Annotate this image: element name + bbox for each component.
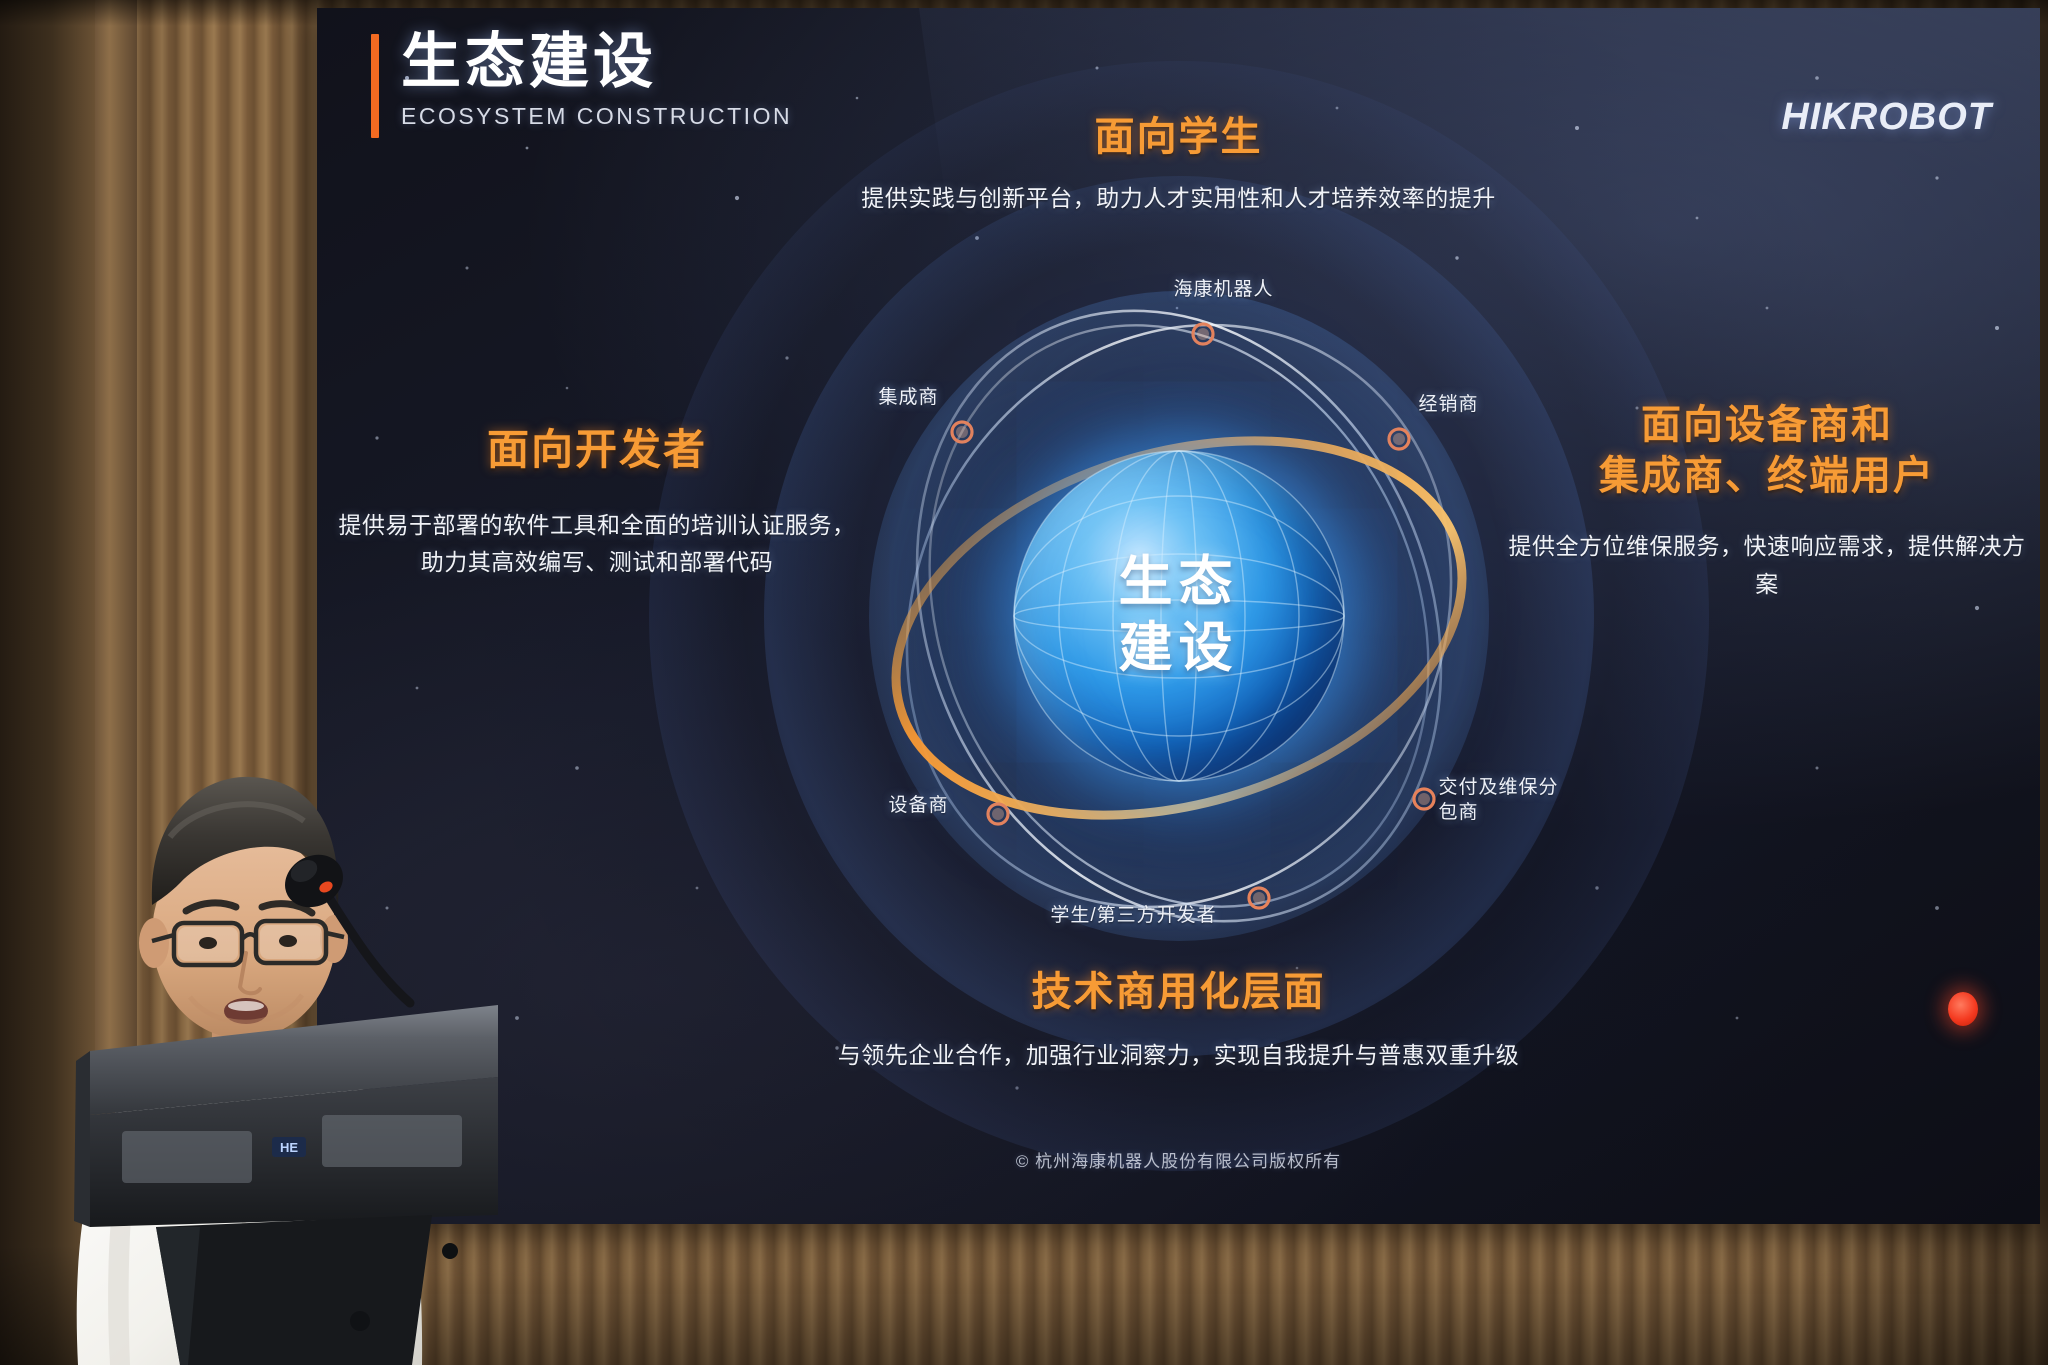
section-students-heading: 面向学生 — [729, 104, 1629, 162]
copyright-notice: © 杭州海康机器人股份有限公司版权所有 — [1016, 1147, 1341, 1172]
podium-left-edge — [74, 1051, 90, 1227]
section-developers: 面向开发者 提供易于部署的软件工具和全面的培训认证服务，助力其高效编写、测试和部… — [337, 416, 857, 582]
orbit-node-student-developer: 学生/第三方开发者 — [1009, 904, 1259, 929]
ecosystem-orbit-diagram: 生态 建设 海康机器人 集成商 经销商 设备商 交付及维保分 包商 学生/第三方… — [799, 236, 1559, 996]
power-led-indicator — [1948, 992, 1978, 1026]
section-commercialization: 技术商用化层面 与领先企业合作，加强行业洞察力，实现自我提升与普惠双重升级 — [729, 959, 1629, 1074]
presentation-display: 生态建设 ECOSYSTEM CONSTRUCTION HIKROBOT — [317, 8, 2040, 1224]
lectern-podium: HE — [60, 965, 500, 1365]
section-vendors-heading: 面向设备商和 集成商、终端用户 — [1502, 400, 2032, 502]
section-developers-heading: 面向开发者 — [337, 416, 857, 477]
section-students-description: 提供实践与创新平台，助力人才实用性和人才培养效率的提升 — [729, 180, 1629, 217]
orbit-node-equipment: 设备商 — [854, 794, 984, 819]
orbit-node-hikrobot: 海康机器人 — [1144, 278, 1304, 303]
mic-head — [276, 845, 352, 917]
title-accent-bar — [371, 34, 379, 138]
orbit-node-integrator: 集成商 — [839, 386, 979, 411]
orbit-node-dealer: 经销商 — [1379, 393, 1519, 418]
globe-center-label: 生态 建设 — [1119, 550, 1239, 682]
podium-badge-label: HE — [280, 1140, 298, 1155]
orbit-node-subcontractor: 交付及维保分 包商 — [1439, 776, 1589, 825]
page-title: 生态建设 — [401, 30, 792, 93]
section-developers-description: 提供易于部署的软件工具和全面的培训认证服务，助力其高效编写、测试和部署代码 — [337, 507, 857, 582]
section-commercialization-heading: 技术商用化层面 — [729, 959, 1629, 1017]
section-students: 面向学生 提供实践与创新平台，助力人才实用性和人才培养效率的提升 — [729, 104, 1629, 217]
section-vendors-description: 提供全方位维保服务，快速响应需求，提供解决方案 — [1502, 528, 2032, 603]
slide-canvas: 生态建设 ECOSYSTEM CONSTRUCTION HIKROBOT — [317, 8, 2040, 1224]
hikrobot-logo: HIKROBOT — [1781, 96, 1992, 139]
section-commercialization-description: 与领先企业合作，加强行业洞察力，实现自我提升与普惠双重升级 — [729, 1037, 1629, 1074]
section-vendors: 面向设备商和 集成商、终端用户 提供全方位维保服务，快速响应需求，提供解决方案 — [1502, 400, 2032, 603]
